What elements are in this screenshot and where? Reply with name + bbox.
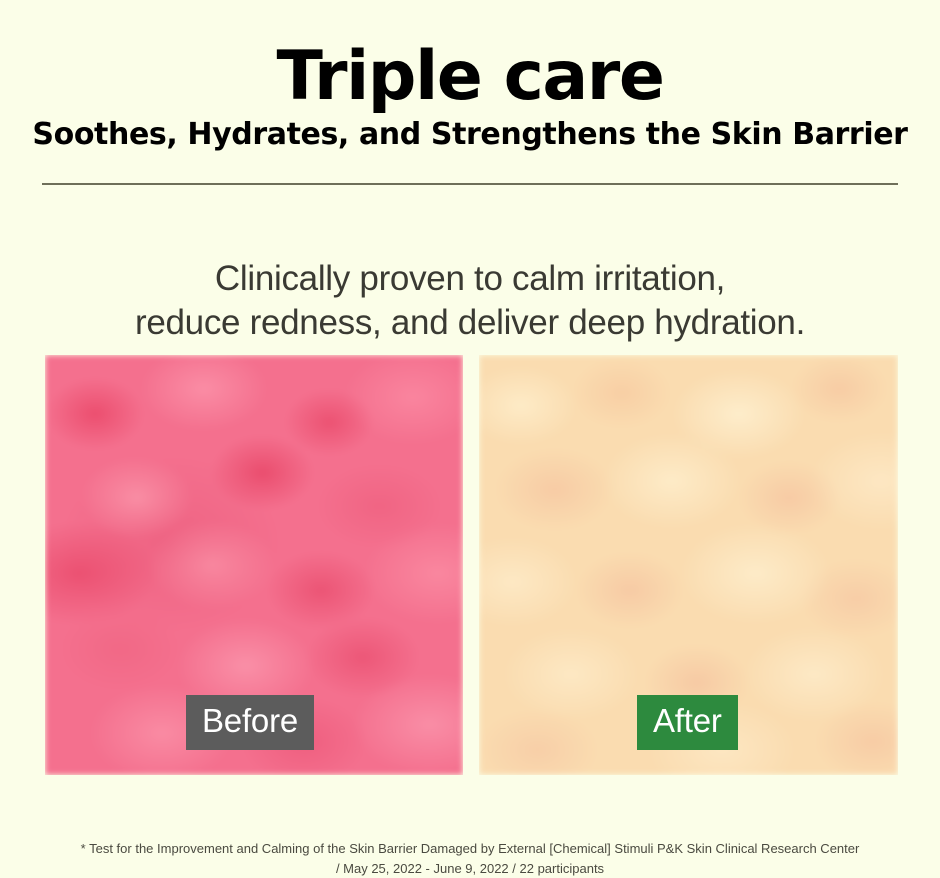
study-footnote-line-2: / May 25, 2022 - June 9, 2022 / 22 parti…: [0, 859, 940, 878]
before-panel: Before: [45, 355, 463, 775]
header-divider: [42, 183, 898, 185]
page-title: Triple care: [0, 40, 940, 115]
claim-text-line-1: Clinically proven to calm irritation,: [0, 257, 940, 301]
claim-text-line-2: reduce redness, and deliver deep hydrati…: [0, 301, 940, 345]
after-panel: After: [479, 355, 898, 775]
page-subtitle: Soothes, Hydrates, and Strengthens the S…: [0, 117, 940, 153]
before-after-comparison: Before After: [45, 355, 898, 775]
after-label: After: [637, 695, 738, 750]
study-footnote-line-1: * Test for the Improvement and Calming o…: [0, 839, 940, 859]
study-footnote: * Test for the Improvement and Calming o…: [0, 839, 940, 878]
before-label: Before: [186, 695, 314, 750]
promo-page: Triple care Soothes, Hydrates, and Stren…: [0, 0, 940, 867]
claim-text: Clinically proven to calm irritation, re…: [0, 257, 940, 346]
